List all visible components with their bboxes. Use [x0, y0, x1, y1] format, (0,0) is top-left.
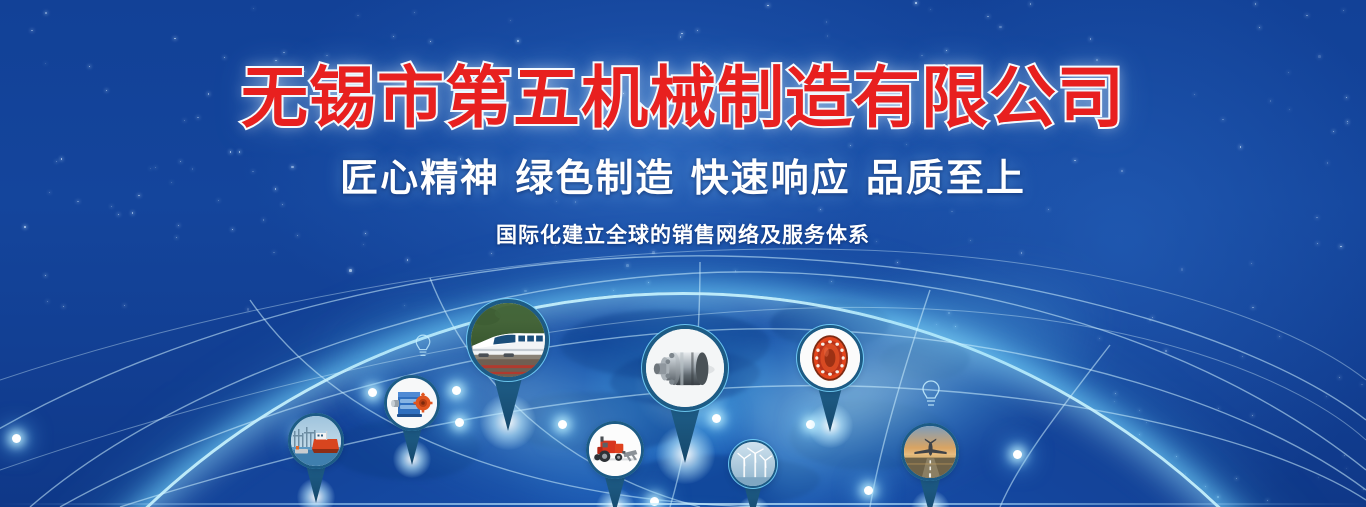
red-tractor-icon: [589, 424, 641, 476]
harbor-ship-icon: [291, 416, 341, 466]
network-node: [12, 434, 21, 443]
company-title: 无锡市第五机械制造有限公司: [0, 62, 1366, 134]
map-pin-port[interactable]: [291, 416, 341, 505]
airplane-runway-icon: [904, 426, 956, 478]
pin-disc: [387, 378, 437, 428]
map-pin-aviation[interactable]: [904, 426, 956, 507]
banner-stage: 无锡市第五机械制造有限公司 匠心精神 绿色制造 快速响应 品质至上 国际化建立全…: [0, 0, 1366, 507]
map-pin-coupling[interactable]: [646, 329, 724, 467]
pin-disc: [800, 328, 860, 388]
company-tagline: 国际化建立全球的销售网络及服务体系: [0, 219, 1366, 249]
company-slogan: 匠心精神 绿色制造 快速响应 品质至上: [0, 147, 1366, 202]
map-pin-reducer[interactable]: [387, 378, 437, 467]
headline-block: 无锡市第五机械制造有限公司 匠心精神 绿色制造 快速响应 品质至上 国际化建立全…: [0, 0, 1366, 249]
pin-disc: [646, 329, 724, 407]
high-speed-train-icon: [471, 303, 545, 377]
pin-disc: [904, 426, 956, 478]
map-pin-wind[interactable]: [731, 442, 775, 507]
pin-disc: [471, 303, 545, 377]
industrial-gearbox-icon: [387, 378, 437, 428]
red-gear-wheel-icon: [800, 328, 860, 388]
wind-turbine-icon: [731, 442, 775, 486]
map-pin-tractor[interactable]: [589, 424, 641, 507]
pin-disc: [731, 442, 775, 486]
map-pin-train[interactable]: [471, 303, 545, 434]
map-pin-gearwheel[interactable]: [800, 328, 860, 435]
pin-disc: [589, 424, 641, 476]
pin-disc: [291, 416, 341, 466]
metal-coupling-icon: [646, 329, 724, 407]
